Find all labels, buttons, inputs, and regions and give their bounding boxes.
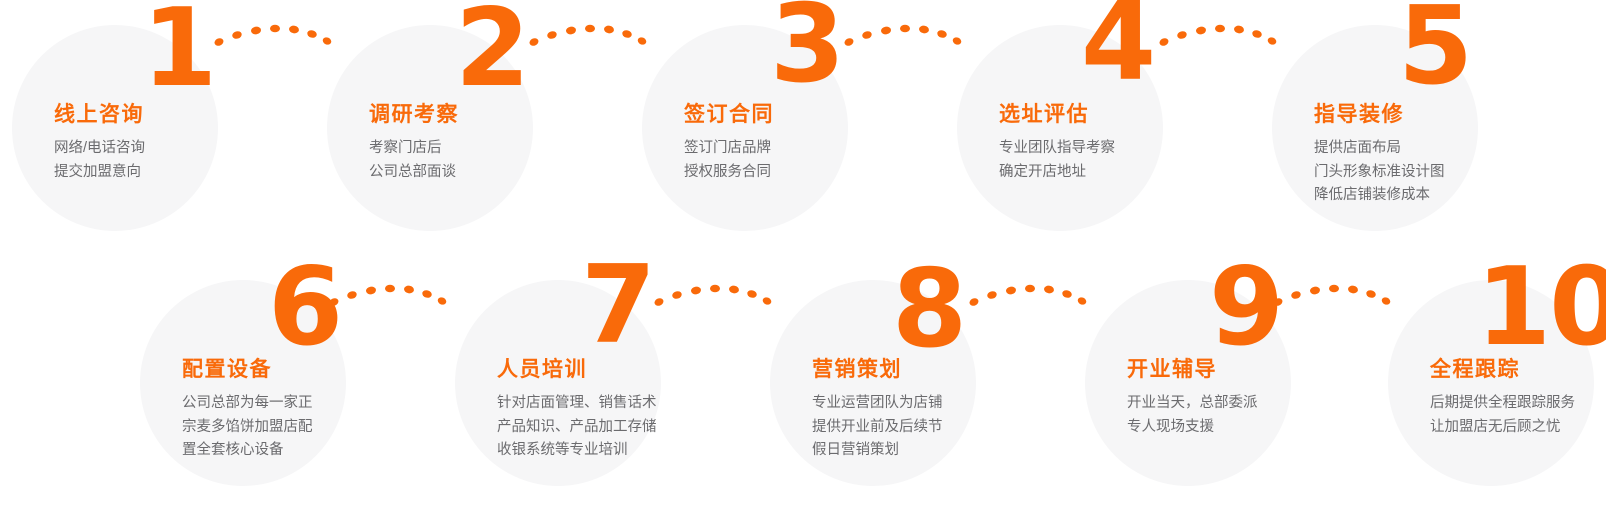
step-description-line: 让加盟店无后顾之忧 [1430,416,1606,439]
connector-arc-7-8 [653,282,773,316]
step-description-line: 降低店铺装修成本 [1314,184,1544,207]
step-description-line: 假日营销策划 [812,439,1042,462]
step-description-line: 门头形象标准设计图 [1314,161,1544,184]
step-description-line: 置全套核心设备 [182,439,412,462]
step-title: 人员培训 [497,358,727,381]
step-number: 1 [142,0,215,103]
connector-arc-6-7 [328,282,448,316]
step-description-line: 专业运营团队为店铺 [812,392,1042,415]
step-title: 营销策划 [812,358,1042,381]
step-text-block: 配置设备 公司总部为每一家正 宗麦多馅饼加盟店配 置全套核心设备 [182,358,412,463]
step-number: 9 [1209,254,1282,362]
step-number: 6 [268,254,341,362]
step-description: 签订门店品牌 授权服务合同 [684,137,914,184]
step-description-line: 专业团队指导考察 [999,137,1229,160]
step-text-block: 调研考察 考察门店后 公司总部面谈 [369,103,599,184]
step-description: 考察门店后 公司总部面谈 [369,137,599,184]
step-description: 专业运营团队为店铺 提供开业前及后续节 假日营销策划 [812,392,1042,462]
step-description-line: 开业当天，总部委派 [1127,392,1357,415]
step-description: 开业当天，总部委派 专人现场支援 [1127,392,1357,439]
step-description-line: 专人现场支援 [1127,416,1357,439]
step-description: 后期提供全程跟踪服务 让加盟店无后顾之忧 [1430,392,1606,439]
step-description: 提供店面布局 门头形象标准设计图 降低店铺装修成本 [1314,137,1544,207]
step-text-block: 签订合同 签订门店品牌 授权服务合同 [684,103,914,184]
step-number: 10 [1476,254,1606,362]
connector-arc-4-5 [1158,22,1278,56]
step-title: 配置设备 [182,358,412,381]
step-item-10[interactable]: 10 全程跟踪 后期提供全程跟踪服务 让加盟店无后顾之忧 [1388,280,1594,486]
step-description-line: 针对店面管理、销售话术 [497,392,727,415]
step-text-block: 营销策划 专业运营团队为店铺 提供开业前及后续节 假日营销策划 [812,358,1042,463]
step-item-4[interactable]: 4 选址评估 专业团队指导考察 确定开店地址 [957,25,1163,231]
step-description-line: 授权服务合同 [684,161,914,184]
step-number: 5 [1398,0,1471,101]
step-title: 指导装修 [1314,103,1544,126]
connector-arc-1-2 [213,22,333,56]
step-title: 调研考察 [369,103,599,126]
step-description: 针对店面管理、销售话术 产品知识、产品加工存储 收银系统等专业培训 [497,392,727,462]
step-description-line: 签订门店品牌 [684,137,914,160]
step-item-6[interactable]: 6 配置设备 公司总部为每一家正 宗麦多馅饼加盟店配 置全套核心设备 [140,280,346,486]
step-item-9[interactable]: 9 开业辅导 开业当天，总部委派 专人现场支援 [1085,280,1291,486]
step-number: 8 [892,256,965,364]
step-description-line: 提供开业前及后续节 [812,416,1042,439]
step-item-3[interactable]: 3 签订合同 签订门店品牌 授权服务合同 [642,25,848,231]
step-text-block: 线上咨询 网络/电话咨询 提交加盟意向 [54,103,284,184]
step-description-line: 公司总部面谈 [369,161,599,184]
step-description-line: 收银系统等专业培训 [497,439,727,462]
step-description-line: 提交加盟意向 [54,161,284,184]
step-text-block: 指导装修 提供店面布局 门头形象标准设计图 降低店铺装修成本 [1314,103,1544,208]
step-item-2[interactable]: 2 调研考察 考察门店后 公司总部面谈 [327,25,533,231]
step-number: 4 [1081,0,1154,97]
join-process-flow-diagram: 1 线上咨询 网络/电话咨询 提交加盟意向 2 调研考察 考察门店后 公司总部面… [0,0,1606,508]
step-number: 2 [455,0,528,103]
step-description: 公司总部为每一家正 宗麦多馅饼加盟店配 置全套核心设备 [182,392,412,462]
step-description-line: 考察门店后 [369,137,599,160]
step-item-5[interactable]: 5 指导装修 提供店面布局 门头形象标准设计图 降低店铺装修成本 [1272,25,1478,231]
step-text-block: 全程跟踪 后期提供全程跟踪服务 让加盟店无后顾之忧 [1430,358,1606,439]
step-number: 7 [581,252,654,360]
step-item-1[interactable]: 1 线上咨询 网络/电话咨询 提交加盟意向 [12,25,218,231]
connector-arc-3-4 [843,22,963,56]
step-number: 3 [770,0,843,99]
step-description: 网络/电话咨询 提交加盟意向 [54,137,284,184]
step-description-line: 确定开店地址 [999,161,1229,184]
step-text-block: 人员培训 针对店面管理、销售话术 产品知识、产品加工存储 收银系统等专业培训 [497,358,727,463]
step-description-line: 后期提供全程跟踪服务 [1430,392,1606,415]
step-description-line: 提供店面布局 [1314,137,1544,160]
step-title: 签订合同 [684,103,914,126]
step-title: 线上咨询 [54,103,284,126]
step-item-7[interactable]: 7 人员培训 针对店面管理、销售话术 产品知识、产品加工存储 收银系统等专业培训 [455,280,661,486]
step-description-line: 公司总部为每一家正 [182,392,412,415]
step-description-line: 宗麦多馅饼加盟店配 [182,416,412,439]
step-title: 选址评估 [999,103,1229,126]
connector-arc-8-9 [968,282,1088,316]
step-description-line: 产品知识、产品加工存储 [497,416,727,439]
step-title: 开业辅导 [1127,358,1357,381]
step-title: 全程跟踪 [1430,358,1606,381]
step-description: 专业团队指导考察 确定开店地址 [999,137,1229,184]
connector-arc-2-3 [528,22,648,56]
step-item-8[interactable]: 8 营销策划 专业运营团队为店铺 提供开业前及后续节 假日营销策划 [770,280,976,486]
step-description-line: 网络/电话咨询 [54,137,284,160]
step-text-block: 开业辅导 开业当天，总部委派 专人现场支援 [1127,358,1357,439]
step-text-block: 选址评估 专业团队指导考察 确定开店地址 [999,103,1229,184]
